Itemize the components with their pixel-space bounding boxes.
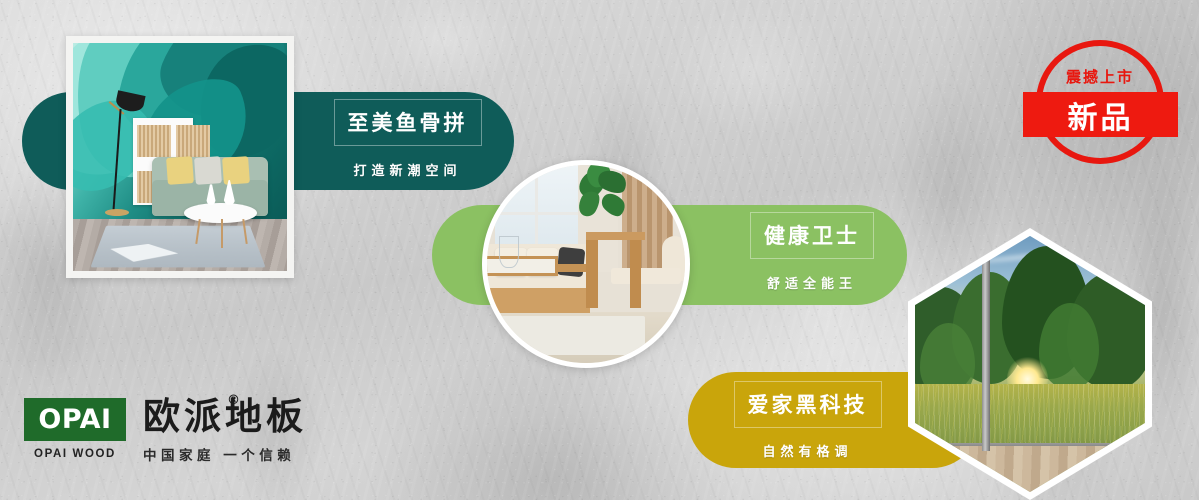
basket (176, 125, 210, 157)
living-room-teal-photo (73, 43, 287, 271)
registered-trademark-icon: ® (227, 394, 240, 408)
new-product-badge[interactable]: 震撼上市 新品 (1030, 36, 1170, 168)
logo-english-name: OPAI WOOD (34, 448, 116, 460)
logo-mark: OPAI OPAI WOOD (24, 398, 126, 460)
card-1-photo-frame[interactable] (66, 36, 294, 278)
area-rug (90, 226, 266, 268)
card-2-subtitle: 舒适全能王 (767, 273, 857, 292)
card-2-title: 健康卫士 (750, 212, 874, 259)
card-3-subtitle: 自然有格调 (762, 441, 852, 460)
area-rug (495, 316, 645, 356)
glass-vase (499, 236, 519, 268)
logo-chinese-group: 欧派地板 ® 中国家庭 一个信赖 (143, 398, 307, 464)
logo-chinese-name: 欧派地板 ® (143, 398, 307, 437)
card-2-text-group: 健康卫士 舒适全能王 (712, 196, 912, 308)
meadow-grass (915, 384, 1145, 451)
card-1-text-group: 至美鱼骨拼 打造新潮空间 (305, 84, 510, 194)
wood-frame (586, 240, 598, 307)
wood-frame (487, 288, 590, 314)
wood-frame (586, 232, 645, 240)
window-mullion (982, 236, 990, 451)
brand-logo[interactable]: OPAI OPAI WOOD 欧派地板 ® 中国家庭 一个信赖 (24, 398, 307, 464)
logo-tagline: 中国家庭 一个信赖 (143, 444, 307, 464)
logo-mark-text: OPAI (38, 404, 111, 435)
badge-bar: 新品 (1023, 92, 1178, 137)
badge-main-label: 新品 (1068, 93, 1134, 137)
chair-seat (611, 268, 681, 285)
card-3-text-group: 爱家黑科技 自然有格调 (700, 366, 915, 474)
basket (137, 125, 171, 157)
logo-chinese-text: 欧派地板 (143, 395, 307, 438)
cushion (222, 156, 250, 185)
logo-box: OPAI (24, 398, 126, 441)
table-leg (221, 219, 223, 249)
wooden-sofa-photo (487, 165, 685, 363)
cushion (166, 156, 194, 185)
armchair (606, 236, 685, 311)
card-2-photo-circle[interactable] (482, 160, 690, 368)
wood-frame (630, 232, 642, 307)
card-3-title: 爱家黑科技 (734, 381, 882, 428)
card-1-title: 至美鱼骨拼 (334, 99, 482, 146)
coffee-table (487, 256, 558, 276)
cushion (194, 156, 222, 185)
card-1-subtitle: 打造新潮空间 (353, 160, 461, 179)
plant-leaf (598, 189, 629, 220)
badge-top-label: 震撼上市 (1030, 66, 1170, 87)
promo-banner: 至美鱼骨拼 打造新潮空间 (0, 0, 1199, 500)
tree (1039, 303, 1099, 390)
dark-cushion (557, 247, 585, 277)
